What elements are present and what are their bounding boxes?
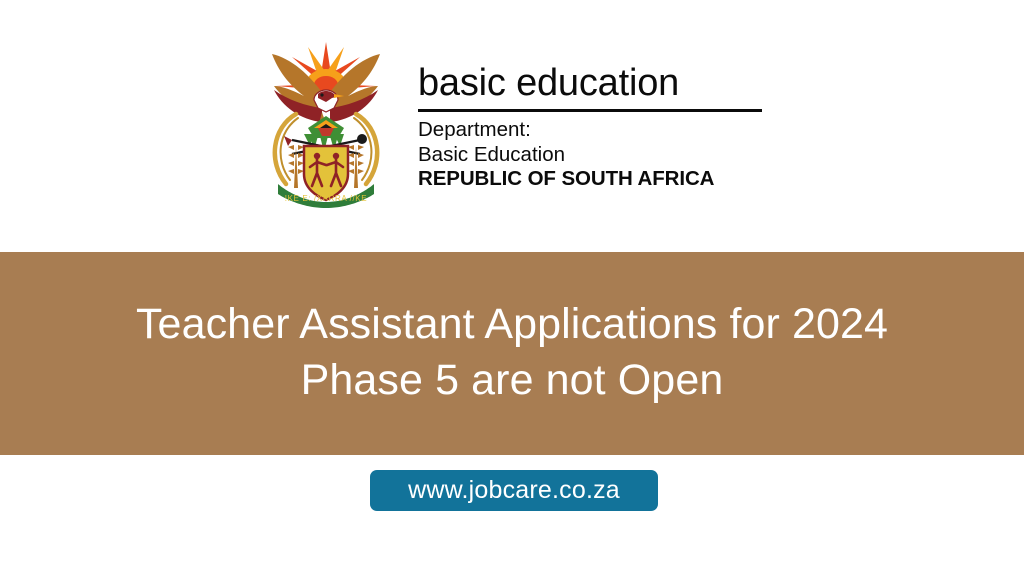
south-african-coat-of-arms-icon: !KE E: /XARRA //KE: [248, 28, 404, 208]
motto-text: !KE E: /XARRA //KE: [285, 194, 367, 203]
khoisan-shield: [304, 146, 348, 200]
headline-banner: Teacher Assistant Applications for 2024 …: [0, 252, 1024, 455]
headline-line-2: Phase 5 are not Open: [136, 352, 888, 408]
headline-text: Teacher Assistant Applications for 2024 …: [136, 296, 888, 412]
logo-subtitle-republic: REPUBLIC OF SOUTH AFRICA: [418, 167, 778, 192]
logo-subtitle-department: Department:: [418, 118, 778, 143]
website-url-badge[interactable]: www.jobcare.co.za: [370, 470, 658, 511]
website-url-label: www.jobcare.co.za: [408, 478, 620, 503]
logo-subtitle-basic-education: Basic Education: [418, 143, 778, 168]
footer-strip: www.jobcare.co.za: [0, 455, 1024, 576]
logo-divider-rule: [418, 109, 762, 112]
department-logo-lockup: !KE E: /XARRA //KE basic education Depar…: [0, 0, 1024, 252]
poster-canvas: !KE E: /XARRA //KE basic education Depar…: [0, 0, 1024, 576]
headline-line-1: Teacher Assistant Applications for 2024: [136, 296, 888, 352]
department-wordmark: basic education Department: Basic Educat…: [418, 62, 778, 192]
logo-title: basic education: [418, 62, 778, 104]
